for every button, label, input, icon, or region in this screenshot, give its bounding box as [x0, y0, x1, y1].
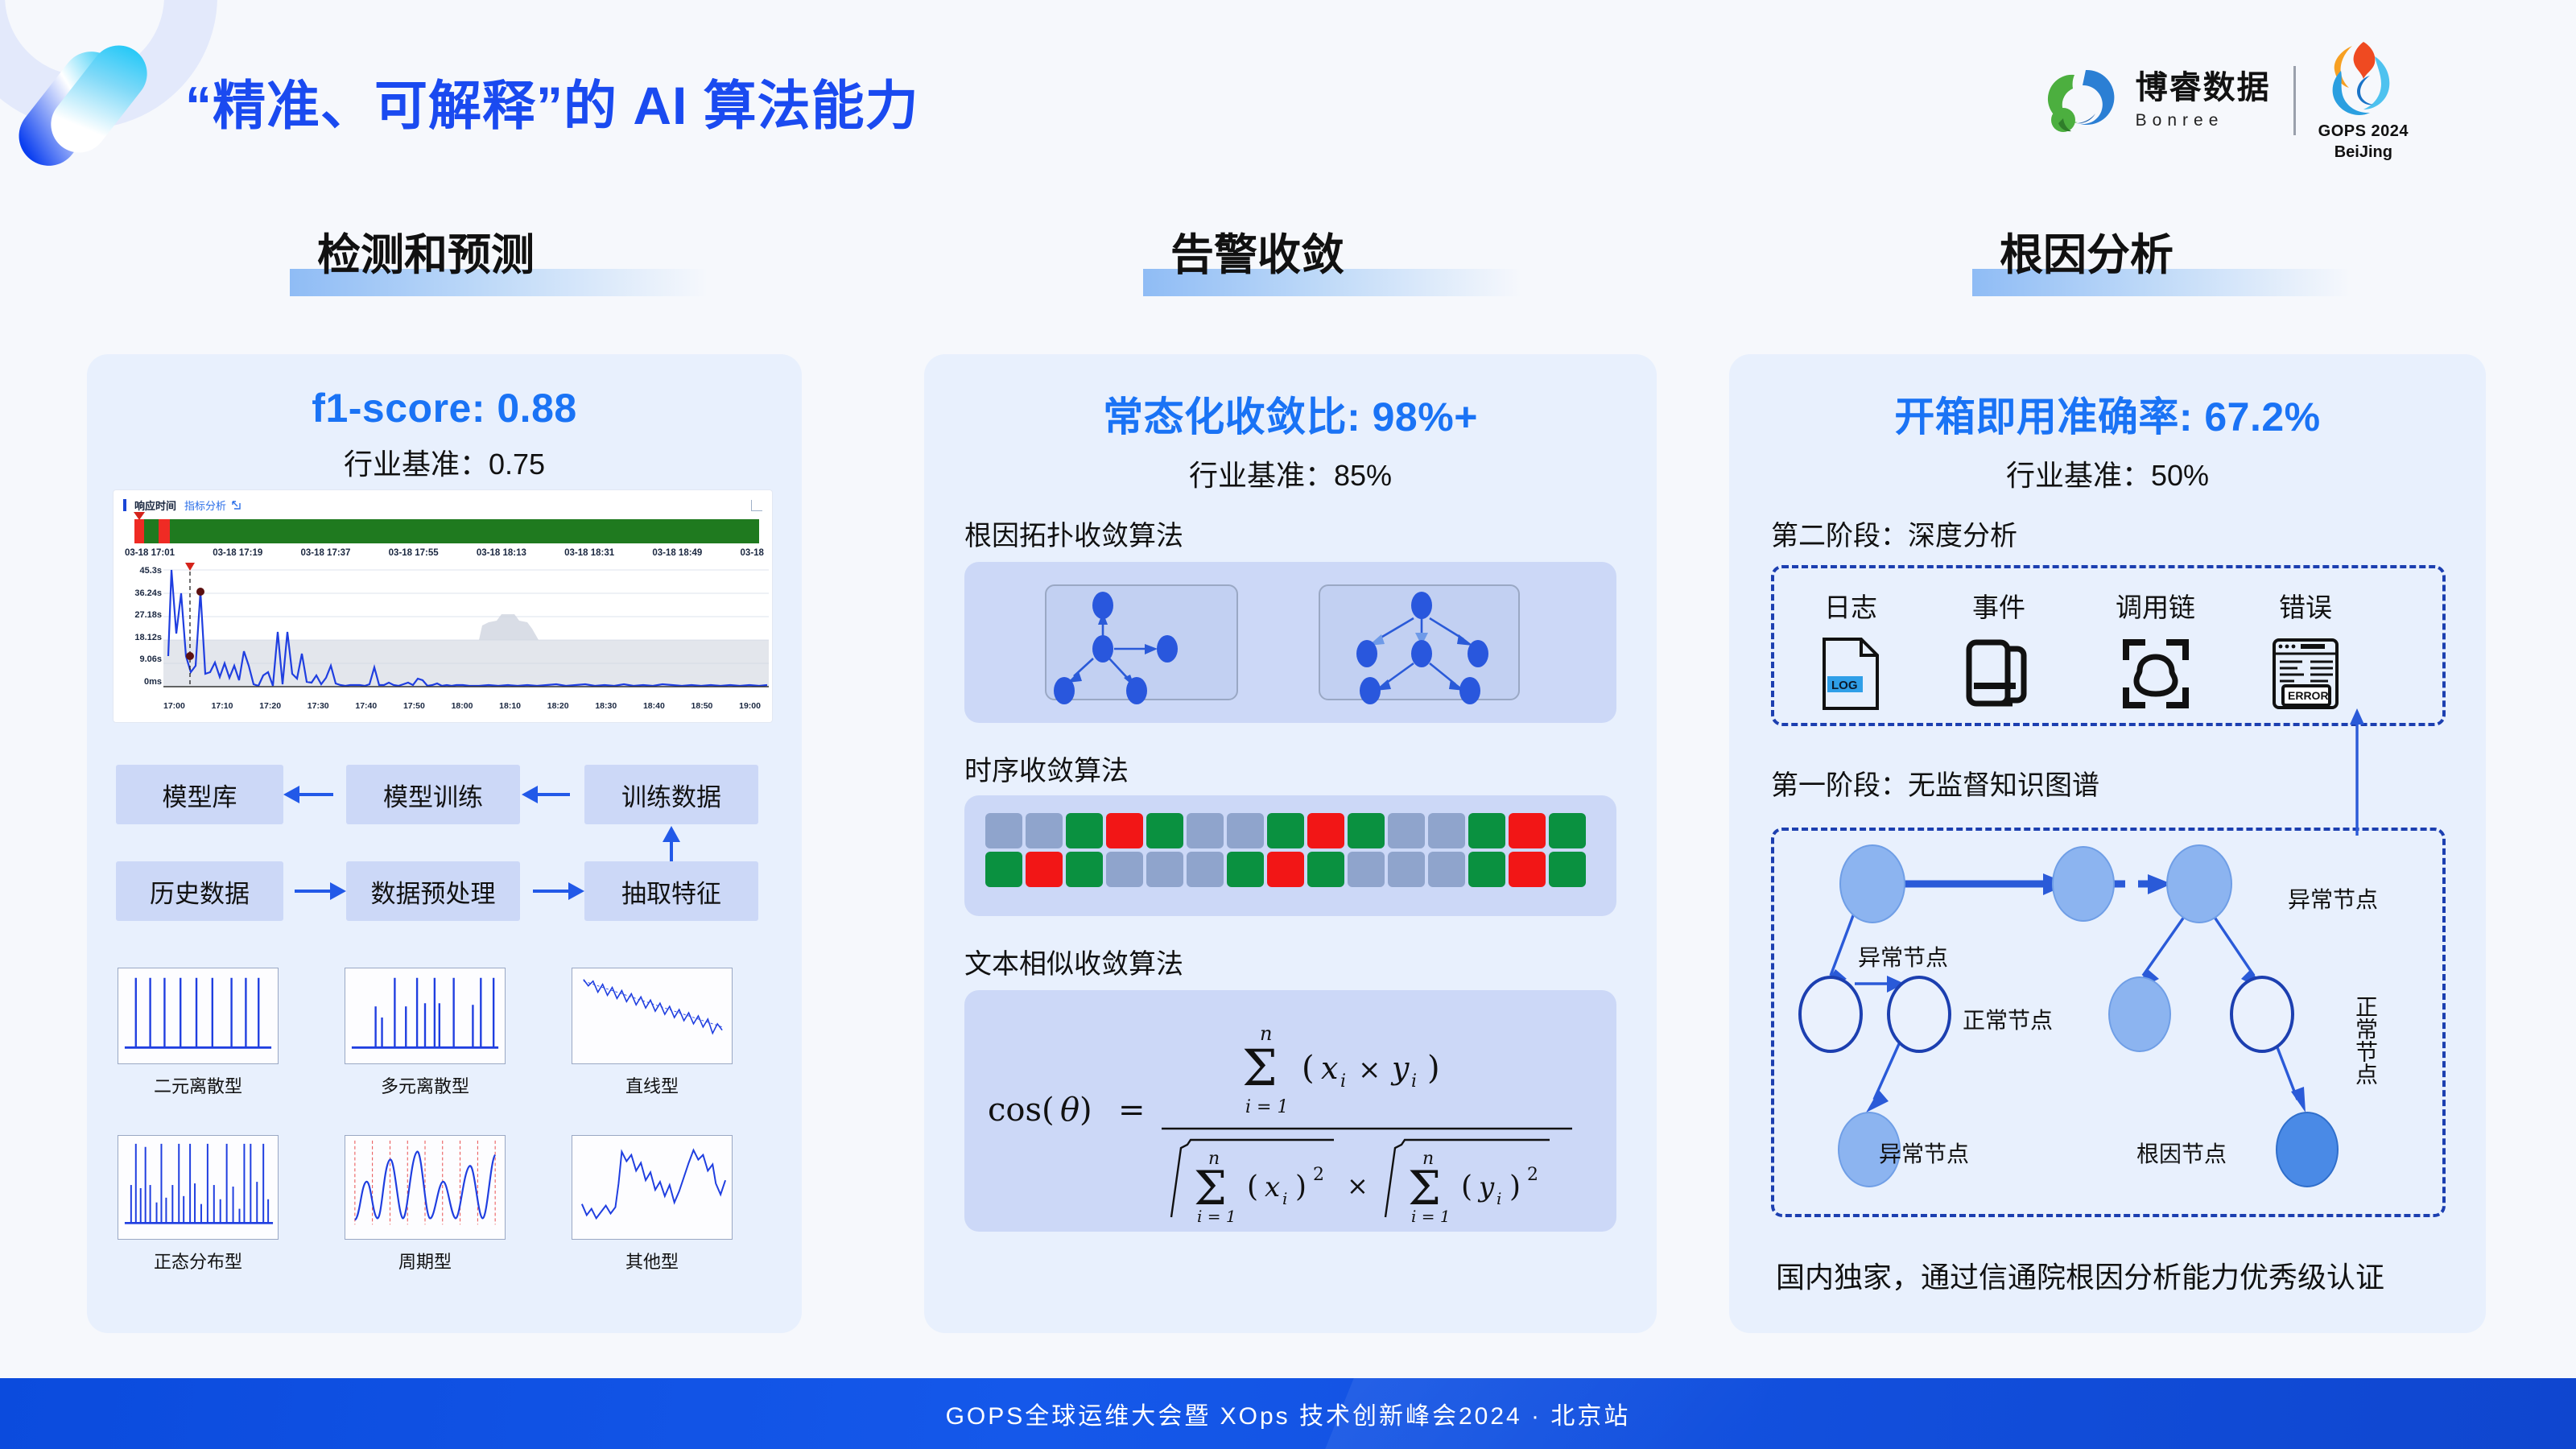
- cosine-similarity-formula: cos( θ ) = n Σ i = 1 ( x i × y i ): [964, 990, 1616, 1232]
- response-time-dashboard[interactable]: 响应时间 指标分析 03-18 17:01 03-18 17:19 03-18 …: [113, 489, 773, 723]
- topology-graph-tree: [1319, 584, 1520, 700]
- sequence-cell-green: [1066, 852, 1103, 887]
- stage-label-deep-analysis: 第二阶段：深度分析: [1771, 514, 2017, 553]
- dashboard-toolbar: 响应时间 指标分析: [114, 490, 772, 518]
- x-tick: 19:00: [739, 701, 761, 711]
- svg-text:(: (: [1461, 1170, 1472, 1203]
- svg-text:(: (: [1247, 1170, 1258, 1203]
- panel-certification-caption: 国内独家，通过信通院根因分析能力优秀级认证: [1776, 1254, 2384, 1296]
- metric-f1-score: f1-score: 0.88 行业基准：0.75: [87, 385, 802, 483]
- metric-analysis-link[interactable]: 指标分析: [184, 497, 226, 513]
- x-tick: 18:00: [452, 701, 473, 711]
- thumbnail-binary-discrete: [118, 968, 279, 1064]
- thumbnail-caption: 其他型: [572, 1248, 733, 1274]
- thumbnail-multi-discrete: [345, 968, 506, 1064]
- metric-benchmark: 行业基准：50%: [1729, 452, 2486, 494]
- svg-text:Σ: Σ: [1242, 1038, 1278, 1097]
- resize-handle-icon[interactable]: [751, 500, 762, 511]
- sequence-cell-green: [1549, 852, 1586, 887]
- flow-node-feature-extract: 抽取特征: [584, 861, 758, 921]
- gops-logo-block: GOPS 2024 BeiJing: [2318, 39, 2409, 162]
- svg-text:i: i: [1411, 1071, 1417, 1092]
- svg-text:×: ×: [1358, 1054, 1381, 1086]
- slide-root: “精准、可解释”的 AI 算法能力 博睿数据 Bonree GOPS 2024 …: [0, 0, 2576, 1449]
- section-header-alert-convergence: 告警收敛: [1143, 219, 1521, 296]
- x-tick: 18:10: [499, 701, 521, 711]
- x-tick: 17:20: [259, 701, 281, 711]
- flow-arrow-feature-to-training-data: [670, 840, 673, 861]
- algo-label-sequence: 时序收敛算法: [964, 749, 1129, 788]
- event-layers-icon: [1964, 636, 2033, 712]
- metric-value: f1-score: 0.88: [87, 385, 802, 431]
- svg-text:): ): [1509, 1170, 1521, 1203]
- sequence-cell-blue: [1227, 813, 1264, 848]
- x-tick: 18:40: [643, 701, 665, 711]
- y-tick: 9.06s: [117, 654, 162, 664]
- thumbnail-caption: 二元离散型: [118, 1072, 279, 1098]
- svg-text:x: x: [1265, 1171, 1280, 1203]
- topology-svg: [1320, 586, 1521, 702]
- section-title: 告警收敛: [1143, 219, 1521, 287]
- thumbnail-plot: [345, 1135, 506, 1240]
- section-header-root-cause: 根因分析: [1972, 219, 2351, 296]
- metric-benchmark: 行业基准：0.75: [87, 441, 802, 483]
- sequence-cell-red: [1106, 813, 1143, 848]
- thumbnail-caption: 直线型: [572, 1072, 733, 1098]
- sequence-cell-red: [1307, 813, 1344, 848]
- sequence-convergence-grid: [985, 813, 1589, 890]
- svg-text:i: i: [1340, 1071, 1346, 1092]
- x-tick: 18:50: [691, 701, 713, 711]
- node-label-normal-mid: 正常节点: [1963, 1003, 2053, 1035]
- svg-text:LOG: LOG: [1831, 679, 1858, 692]
- sequence-cell-blue: [1187, 852, 1224, 887]
- metric-benchmark: 行业基准：85%: [924, 452, 1657, 494]
- node-label-abnormal-left: 异常节点: [1858, 940, 1948, 972]
- section-header-detection: 检测和预测: [290, 219, 708, 296]
- panel-detection-prediction: f1-score: 0.88 行业基准：0.75 响应时间 指标分析: [87, 354, 802, 1333]
- svg-text:x: x: [1321, 1051, 1338, 1086]
- status-segment-error: [159, 519, 170, 543]
- svg-text:): ): [1427, 1050, 1440, 1087]
- stage2-dashed-container: 日志 LOG 事件 调用链: [1771, 565, 2446, 726]
- pillar-label: 调用链: [2116, 586, 2195, 625]
- svg-text:θ: θ: [1060, 1092, 1080, 1129]
- y-tick: 18.12s: [117, 633, 162, 642]
- algo-label-text-similarity: 文本相似收敛算法: [964, 942, 1183, 981]
- flow-node-data-preprocess: 数据预处理: [346, 861, 520, 921]
- node-label-normal-right: 正常节点: [2349, 995, 2381, 1085]
- stage-connector-arrow: [2341, 708, 2373, 837]
- node-label-abnormal-bottom: 异常节点: [1879, 1137, 1969, 1169]
- svg-text:=: =: [1118, 1092, 1146, 1129]
- topology-graph-flat: [1045, 584, 1238, 700]
- thumbnail-periodic: [345, 1135, 506, 1240]
- flow-arrow-training-to-library: [298, 793, 333, 796]
- pillar-event: 事件: [1964, 586, 2033, 712]
- flow-node-history-data: 历史数据: [116, 861, 283, 921]
- svg-text:cos(: cos(: [988, 1092, 1055, 1129]
- sequence-cell-blue: [1146, 852, 1183, 887]
- brand-lockup: 博睿数据 Bonree GOPS 2024 BeiJing: [2044, 39, 2409, 162]
- formula-svg: cos( θ ) = n Σ i = 1 ( x i × y i ): [976, 998, 1604, 1224]
- response-time-chart: 45.3s 36.24s 27.18s 18.12s 9.06s 0ms: [117, 566, 762, 711]
- sequence-cell-green: [985, 852, 1022, 887]
- sequence-cell-blue: [1187, 813, 1224, 848]
- chart-y-axis: 45.3s 36.24s 27.18s 18.12s 9.06s 0ms: [117, 566, 162, 687]
- x-tick: 17:40: [355, 701, 377, 711]
- sequence-cell-blue: [1348, 852, 1385, 887]
- panel-alert-convergence: 常态化收敛比: 98%+ 行业基准：85% 根因拓扑收敛算法: [924, 354, 1657, 1333]
- svg-text:): ): [1080, 1092, 1092, 1129]
- thumbnail-caption: 正态分布型: [118, 1248, 279, 1274]
- algo-box-sequence: [964, 795, 1616, 916]
- timeline-tick: 03-18 18:49: [652, 548, 702, 558]
- timeline-tick: 03-18 17:55: [389, 548, 439, 558]
- svg-text:i: i: [1282, 1189, 1287, 1208]
- timeline-tick: 03-18: [741, 548, 764, 558]
- brand-divider: [2293, 66, 2296, 135]
- log-file-icon: LOG: [1819, 636, 1882, 712]
- node-label-abnormal-right: 异常节点: [2288, 882, 2378, 914]
- chart-plot-area: [163, 569, 769, 688]
- gops-flame-icon: [2325, 39, 2402, 122]
- timeline-axis: 03-18 17:01 03-18 17:19 03-18 17:37 03-1…: [125, 548, 764, 558]
- chart-x-axis: 17:00 17:10 17:20 17:30 17:40 17:50 18:0…: [163, 701, 761, 711]
- x-tick: 17:10: [212, 701, 233, 711]
- metric-out-of-box-accuracy: 开箱即用准确率: 67.2% 行业基准：50%: [1729, 385, 2486, 494]
- thumbnail-plot: [118, 968, 279, 1064]
- sequence-cell-blue: [985, 813, 1022, 848]
- timeline-tick: 03-18 18:13: [477, 548, 526, 558]
- sequence-cell-green: [1468, 852, 1505, 887]
- sequence-cell-blue: [1026, 813, 1063, 848]
- y-tick: 45.3s: [117, 566, 162, 576]
- algo-label-topology: 根因拓扑收敛算法: [964, 514, 1183, 553]
- thumbnail-linear: [572, 968, 733, 1064]
- sequence-cell-green: [1066, 813, 1103, 848]
- availability-status-bar: [134, 519, 759, 543]
- timeline-tick: 03-18 18:31: [564, 548, 614, 558]
- metric-value: 常态化收敛比: 98%+: [924, 385, 1657, 443]
- sequence-cell-green: [1227, 852, 1264, 887]
- flow-node-model-training: 模型训练: [346, 765, 520, 824]
- stage-label-knowledge-graph: 第一阶段：无监督知识图谱: [1771, 763, 2099, 803]
- thumbnail-plot: [118, 1135, 279, 1240]
- thumbnail-plot: [572, 968, 733, 1064]
- svg-text:i = 1: i = 1: [1197, 1207, 1236, 1226]
- error-window-icon: ERROR: [2270, 636, 2341, 712]
- x-tick: 17:30: [308, 701, 329, 711]
- svg-text:): ): [1295, 1170, 1307, 1203]
- thumbnail-caption: 周期型: [345, 1248, 506, 1274]
- sequence-cell-green: [1307, 852, 1344, 887]
- brand-name-en: Bonree: [2136, 112, 2271, 129]
- x-tick: 18:30: [595, 701, 617, 711]
- flow-node-model-library: 模型库: [116, 765, 283, 824]
- thumbnail-other: [572, 1135, 733, 1240]
- pillar-label: 事件: [1972, 586, 2025, 625]
- accent-tick-icon: [123, 499, 126, 511]
- algo-box-topology: [964, 562, 1616, 723]
- svg-text:2: 2: [1527, 1165, 1538, 1185]
- metric-value: 开箱即用准确率: 67.2%: [1729, 385, 2486, 443]
- svg-text:i = 1: i = 1: [1245, 1097, 1288, 1117]
- pillar-trace: 调用链: [2116, 586, 2195, 712]
- status-segment-error: [134, 519, 144, 543]
- sequence-cell-blue: [1388, 852, 1425, 887]
- thumbnail-plot: [572, 1135, 733, 1240]
- flow-arrow-preprocess-to-feature: [533, 890, 570, 893]
- y-tick: 36.24s: [117, 588, 162, 598]
- panel-root-cause-analysis: 开箱即用准确率: 67.2% 行业基准：50% 第二阶段：深度分析 日志 LOG…: [1729, 354, 2486, 1333]
- page-title: “精准、可解释”的 AI 算法能力: [185, 63, 919, 140]
- sequence-cell-red: [1509, 813, 1546, 848]
- node-label-root-cause: 根因节点: [2136, 1137, 2227, 1169]
- section-title: 检测和预测: [290, 219, 708, 287]
- bonree-logo-icon: [2044, 64, 2118, 138]
- dashboard-title: 响应时间: [134, 497, 176, 513]
- pillar-error: 错误 ERROR: [2270, 586, 2341, 712]
- flow-arrow-history-to-preprocess: [295, 890, 332, 893]
- sequence-cell-red: [1509, 852, 1546, 887]
- sequence-cell-green: [1348, 813, 1385, 848]
- sequence-cell-blue: [1428, 813, 1465, 848]
- thumbnail-normal-distribution: [118, 1135, 279, 1240]
- svg-text:i = 1: i = 1: [1411, 1207, 1451, 1226]
- svg-text:(: (: [1302, 1050, 1315, 1087]
- gops-city: BeiJing: [2334, 143, 2392, 162]
- x-tick: 17:50: [403, 701, 425, 711]
- sequence-cell-green: [1267, 813, 1304, 848]
- svg-text:ERROR: ERROR: [2288, 689, 2329, 702]
- y-tick: 0ms: [117, 677, 162, 687]
- timeline-tick: 03-18 17:37: [300, 548, 350, 558]
- gops-title: GOPS 2024: [2318, 122, 2409, 141]
- trace-scan-icon: [2121, 636, 2190, 712]
- topology-svg: [1046, 586, 1240, 702]
- sequence-cell-red: [1267, 852, 1304, 887]
- footer-bar: GOPS全球运维大会暨 XOps 技术创新峰会2024 · 北京站: [0, 1378, 2576, 1449]
- flow-node-training-data: 训练数据: [584, 765, 758, 824]
- svg-text:y: y: [1477, 1171, 1495, 1203]
- sequence-cell-green: [1549, 813, 1586, 848]
- sequence-cell-blue: [1388, 813, 1425, 848]
- svg-text:y: y: [1390, 1051, 1410, 1086]
- x-tick: 18:20: [547, 701, 569, 711]
- flow-arrow-data-to-training: [536, 793, 570, 796]
- sequence-cell-blue: [1106, 852, 1143, 887]
- brand-name-cn: 博睿数据: [2136, 72, 2271, 104]
- y-tick: 27.18s: [117, 610, 162, 620]
- metric-convergence-ratio: 常态化收敛比: 98%+ 行业基准：85%: [924, 385, 1657, 494]
- svg-text:×: ×: [1347, 1170, 1368, 1201]
- sequence-cell-blue: [1428, 852, 1465, 887]
- svg-text:i: i: [1496, 1189, 1501, 1208]
- thumbnail-plot: [345, 968, 506, 1064]
- timeline-tick: 03-18 17:01: [125, 548, 175, 558]
- section-title: 根因分析: [1972, 219, 2351, 287]
- thumbnail-caption: 多元离散型: [345, 1072, 506, 1098]
- sequence-cell-green: [1468, 813, 1505, 848]
- sequence-cell-green: [1146, 813, 1183, 848]
- external-link-icon[interactable]: [231, 500, 242, 510]
- footer-text: GOPS全球运维大会暨 XOps 技术创新峰会2024 · 北京站: [946, 1396, 1631, 1431]
- pillar-log: 日志 LOG: [1819, 586, 1882, 712]
- timeline-marker-icon: [134, 512, 145, 520]
- pillar-label: 日志: [1824, 586, 1877, 625]
- pillar-label: 错误: [2279, 586, 2332, 625]
- x-tick: 17:00: [163, 701, 185, 711]
- svg-text:2: 2: [1313, 1165, 1324, 1185]
- sequence-cell-red: [1026, 852, 1063, 887]
- timeline-tick: 03-18 17:19: [213, 548, 262, 558]
